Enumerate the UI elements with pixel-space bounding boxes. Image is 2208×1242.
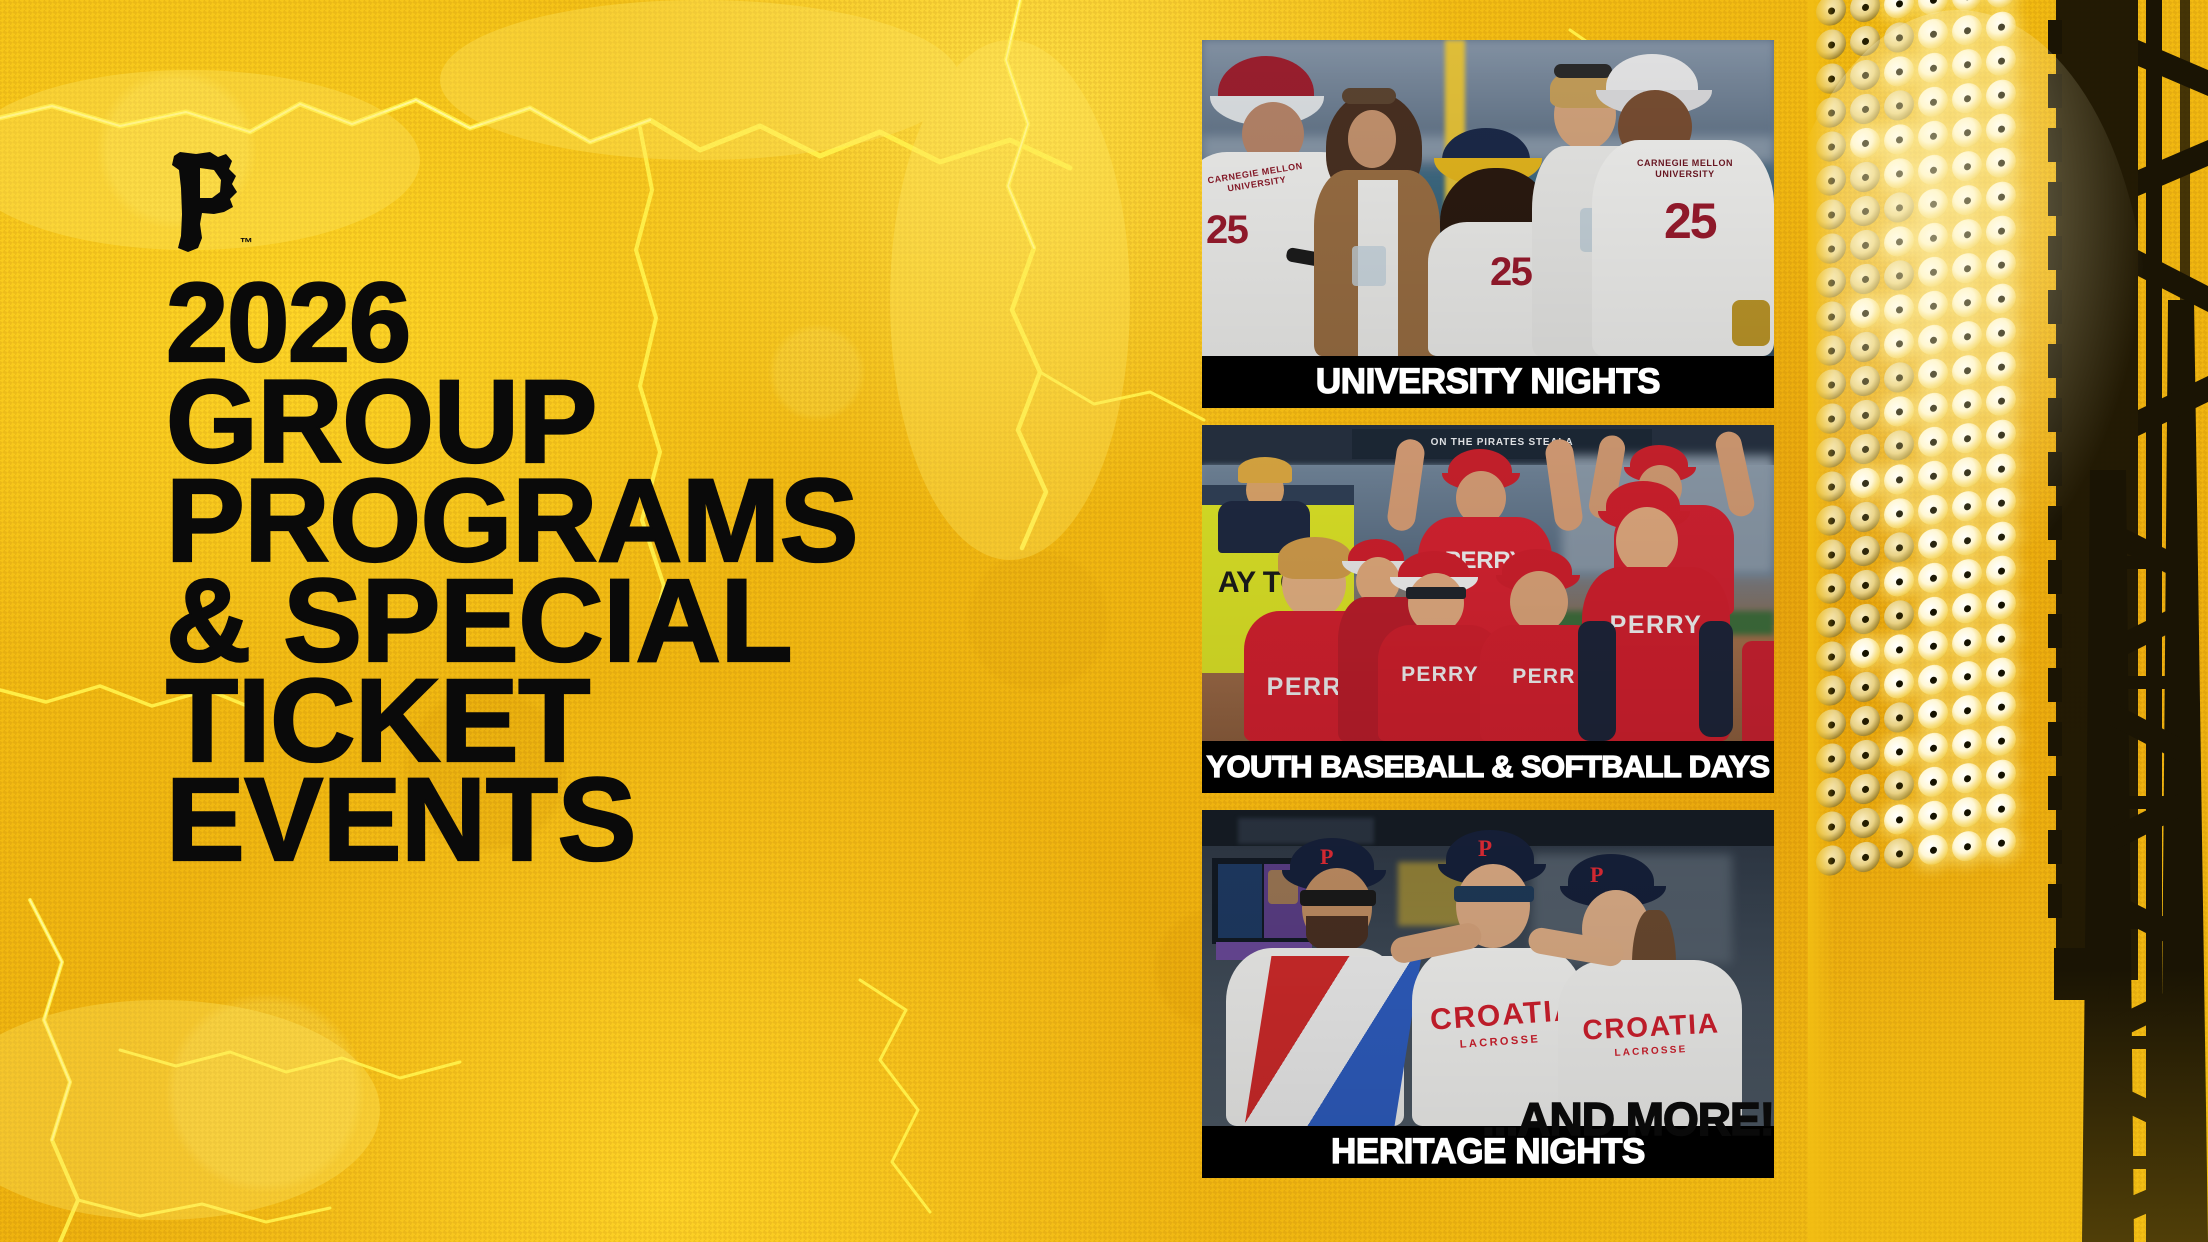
headline-line-6: EVENTS bbox=[166, 771, 860, 871]
program-card-youth-baseball[interactable]: ON THE PIRATES STEALA AY TO W PERRY bbox=[1202, 425, 1774, 793]
trademark-symbol: ™ bbox=[240, 235, 253, 250]
page-title: 2026 GROUP PROGRAMS & SPECIAL TICKET EVE… bbox=[166, 276, 860, 871]
pirates-p-logo-icon: ™ bbox=[166, 152, 240, 256]
card-caption-bar: UNIVERSITY NIGHTS bbox=[1202, 356, 1774, 408]
stadium-light-tower-icon bbox=[1808, 0, 2208, 1242]
photo-youth-baseball: ON THE PIRATES STEALA AY TO W PERRY bbox=[1202, 425, 1774, 741]
photo-university-nights: CARNEGIE MELLONUNIVERSITY 25 25 bbox=[1202, 40, 1774, 356]
card-caption-label: UNIVERSITY NIGHTS bbox=[1316, 362, 1660, 402]
headline-block: ™ 2026 GROUP PROGRAMS & SPECIAL TICKET E… bbox=[0, 0, 860, 1242]
photo-heritage-nights: P CROATIA P CROATIA LACROSSE bbox=[1202, 810, 1774, 1126]
card-caption-bar: YOUTH BASEBALL & SOFTBALL DAYS bbox=[1202, 741, 1774, 793]
program-card-university-nights[interactable]: CARNEGIE MELLONUNIVERSITY 25 25 bbox=[1202, 40, 1774, 408]
card-caption-label: YOUTH BASEBALL & SOFTBALL DAYS bbox=[1207, 749, 1770, 785]
poster-canvas: ™ 2026 GROUP PROGRAMS & SPECIAL TICKET E… bbox=[0, 0, 2208, 1242]
and-more-label: ...AND MORE! bbox=[1202, 1092, 1774, 1146]
light-bulb-array bbox=[1816, 0, 2066, 977]
program-card-list: CARNEGIE MELLONUNIVERSITY 25 25 bbox=[1202, 40, 1774, 1178]
